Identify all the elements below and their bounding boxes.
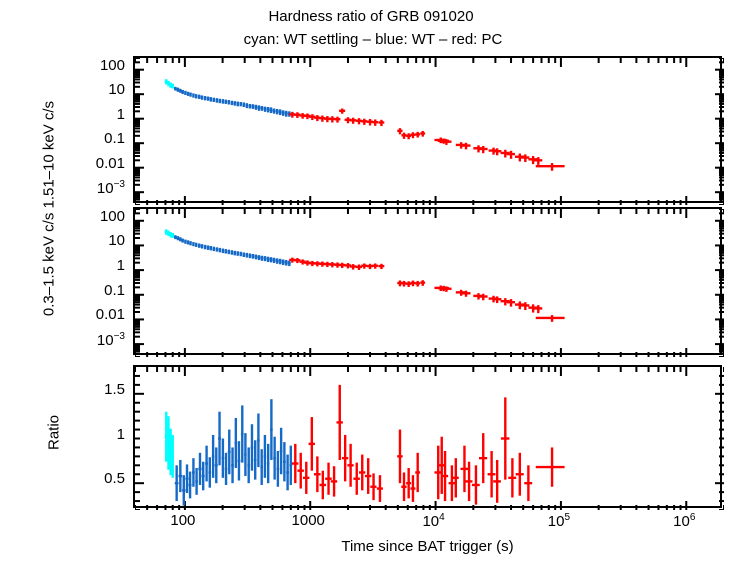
y-tick-label: 10−3 bbox=[65, 179, 125, 197]
x-tick-label: 105 bbox=[519, 512, 599, 530]
series-pc bbox=[289, 109, 564, 171]
y-tick-label: 0.01 bbox=[65, 306, 125, 323]
plot-canvas bbox=[135, 58, 724, 205]
x-tick-label: 100 bbox=[143, 512, 223, 529]
y-tick-label: 100 bbox=[65, 208, 125, 225]
series-pc bbox=[289, 258, 564, 322]
y-tick-label: 100 bbox=[65, 57, 125, 74]
y-axis-label-flux: 0.3–1.5 keV c/s 1.51–10 keV c/s bbox=[41, 49, 58, 369]
plot-panel-soft-band bbox=[133, 207, 722, 355]
y-tick-label: 1 bbox=[65, 257, 125, 274]
y-tick-label: 10 bbox=[65, 232, 125, 249]
series-pc bbox=[292, 385, 565, 505]
x-axis-label: Time since BAT trigger (s) bbox=[133, 538, 722, 555]
y-tick-label: 1.5 bbox=[65, 381, 125, 398]
y-tick-label: 1 bbox=[65, 106, 125, 123]
series-wt bbox=[174, 87, 291, 117]
plot-canvas bbox=[135, 367, 724, 510]
y-tick-label: 0.5 bbox=[65, 470, 125, 487]
series-wt-settling bbox=[165, 412, 174, 478]
series-wt bbox=[175, 399, 292, 505]
y-tick-label: 1 bbox=[65, 426, 125, 443]
x-tick-label: 104 bbox=[394, 512, 474, 530]
page-title: Hardness ratio of GRB 091020 bbox=[0, 8, 742, 25]
y-axis-label-ratio: Ratio bbox=[46, 373, 63, 493]
y-tick-label: 10 bbox=[65, 81, 125, 98]
y-tick-label: 0.1 bbox=[65, 130, 125, 147]
x-tick-label: 1000 bbox=[268, 512, 348, 529]
plot-panel-ratio bbox=[133, 365, 722, 508]
x-tick-label: 106 bbox=[644, 512, 724, 530]
y-tick-label: 0.01 bbox=[65, 155, 125, 172]
figure-root: Hardness ratio of GRB 091020 cyan: WT se… bbox=[0, 0, 742, 566]
series-wt bbox=[174, 235, 291, 266]
series-wt-settling bbox=[165, 79, 174, 88]
y-tick-label: 10−3 bbox=[65, 331, 125, 349]
series-wt-settling bbox=[165, 229, 174, 238]
legend-text: cyan: WT settling – blue: WT – red: PC bbox=[133, 31, 613, 48]
y-tick-label: 0.1 bbox=[65, 282, 125, 299]
plot-canvas bbox=[135, 209, 724, 357]
plot-panel-hard-band bbox=[133, 56, 722, 203]
